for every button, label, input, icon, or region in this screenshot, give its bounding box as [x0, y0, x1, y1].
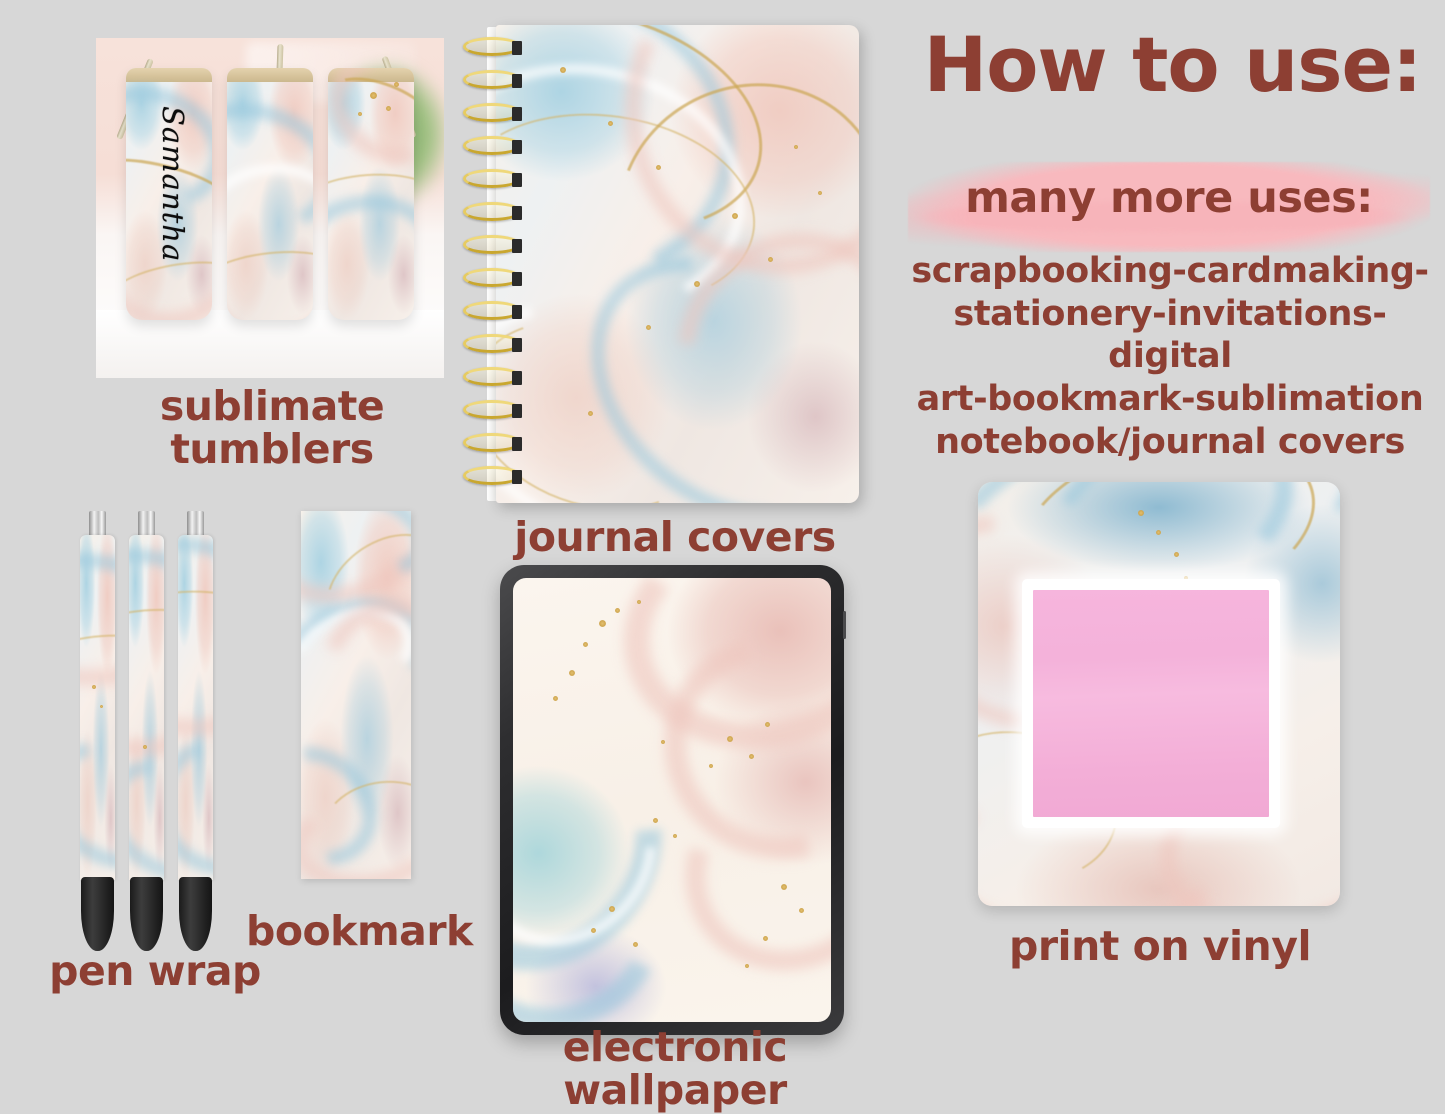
- page-title: How to use:: [905, 28, 1440, 102]
- journal-spiral-ring: [463, 367, 521, 386]
- label-electronic-wallpaper: electronic wallpaper: [480, 1026, 870, 1113]
- tablet-side-button: [843, 611, 846, 639]
- pen-2: [129, 511, 164, 931]
- pen-3: [178, 511, 213, 931]
- many-more-uses-heading: many more uses:: [908, 176, 1430, 222]
- tumblers-mockup-image: Samantha: [96, 38, 444, 378]
- print-on-vinyl-mockup: [978, 482, 1340, 906]
- journal-spiral-ring: [463, 136, 521, 155]
- pen-barrel-3: [178, 535, 213, 880]
- journal-spiral-ring: [463, 202, 521, 221]
- label-bookmark: bookmark: [246, 910, 466, 953]
- pen-wrap-mockup: [80, 493, 225, 993]
- photo-table-surface: [96, 310, 444, 378]
- journal-cover-art: [496, 25, 859, 503]
- tablet-screen-wallpaper: [513, 578, 831, 1022]
- pen-tip-1: [81, 877, 114, 951]
- tumbler-personalization-text: Samantha: [156, 106, 190, 262]
- journal-spiral-ring: [463, 466, 521, 485]
- sticky-note-surface: [1033, 590, 1269, 817]
- journal-spiral-ring: [463, 433, 521, 452]
- pen-barrel-1: [80, 535, 115, 880]
- pen-clicker-3: [187, 511, 204, 537]
- pen-clicker-2: [138, 511, 155, 537]
- pen-1: [80, 511, 115, 931]
- tumbler-3: [328, 68, 414, 320]
- tumbler-lid-2: [227, 68, 313, 82]
- journal-spiral-ring: [463, 268, 521, 287]
- pen-tip-2: [130, 877, 163, 951]
- label-sublimate-tumblers: sublimate tumblers: [112, 385, 432, 472]
- uses-list-text: scrapbooking-cardmaking- stationery-invi…: [898, 250, 1442, 463]
- journal-spiral-ring: [463, 70, 521, 89]
- journal-spiral-ring: [463, 169, 521, 188]
- journal-spiral-ring: [463, 400, 521, 419]
- journal-spiral-ring: [463, 334, 521, 353]
- journal-spiral-ring: [463, 37, 521, 56]
- label-pen-wrap: pen wrap: [35, 950, 275, 993]
- tumbler-2: [227, 68, 313, 320]
- poster-canvas: Samantha sublimate tumblers: [0, 0, 1445, 1084]
- pen-barrel-2: [129, 535, 164, 880]
- bookmark-mockup: [301, 511, 411, 879]
- journal-mockup: [463, 25, 859, 503]
- label-journal-covers: journal covers: [500, 516, 850, 559]
- journal-spiral-ring: [463, 235, 521, 254]
- pen-clicker-1: [89, 511, 106, 537]
- tablet-device-mockup: [500, 565, 844, 1035]
- pen-tip-3: [179, 877, 212, 951]
- journal-spiral-ring: [463, 301, 521, 320]
- journal-spiral-ring: [463, 103, 521, 122]
- label-print-on-vinyl: print on vinyl: [1000, 925, 1320, 968]
- tumbler-1: Samantha: [126, 68, 212, 320]
- tumbler-lid-1: [126, 68, 212, 82]
- sticky-note-frame: [1022, 579, 1280, 828]
- tumbler-lid-3: [328, 68, 414, 82]
